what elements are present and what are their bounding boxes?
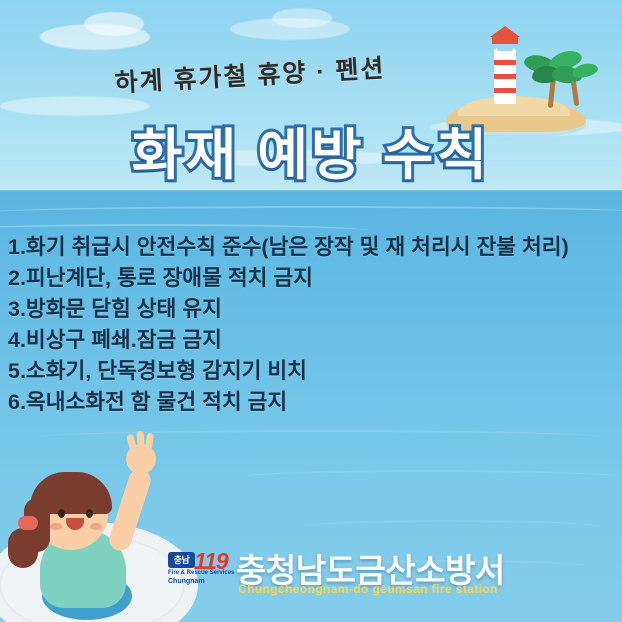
girl-finger bbox=[126, 433, 137, 450]
footer-logo: 충남 119 Fire & Rescue Services Chungnam 충… bbox=[168, 544, 608, 606]
girl-hair-bow bbox=[18, 516, 38, 530]
cloud-icon bbox=[272, 8, 332, 28]
girl-cheek bbox=[50, 523, 62, 530]
wave-line bbox=[0, 206, 622, 220]
fire-service-emblem-icon: 충남 119 Fire & Rescue Services Chungnam bbox=[168, 550, 230, 600]
list-item: 6.옥내소화전 함 물건 적치 금지 bbox=[8, 387, 618, 418]
list-item: 2.피난계단, 통로 장애물 적치 금지 bbox=[8, 263, 618, 294]
girl-pigtail bbox=[8, 528, 38, 568]
sea-horizon-line bbox=[0, 190, 622, 191]
girl-eye bbox=[86, 509, 93, 518]
lighthouse-stripe bbox=[494, 88, 516, 93]
list-item: 1.화기 취급시 안전수칙 준수(남은 장작 및 재 처리시 잔불 처리) bbox=[8, 232, 618, 263]
girl-finger bbox=[145, 433, 154, 450]
girl-eye bbox=[58, 509, 65, 518]
girl-cheek bbox=[90, 523, 102, 530]
emblem-badge: 충남 bbox=[168, 552, 195, 568]
lighthouse-window bbox=[497, 44, 513, 51]
organization-name-english: Chungcheongnam-do geumsan fire station bbox=[238, 582, 498, 596]
list-item: 5.소화기, 단독경보형 감지기 비치 bbox=[8, 356, 618, 387]
poster-root: 하계 휴가철 휴양 · 펜션 화재 예방 수칙 1.화기 취급시 안전수칙 준수… bbox=[0, 0, 622, 622]
wave-line bbox=[300, 520, 600, 534]
list-item: 3.방화문 닫힘 상태 유지 bbox=[8, 294, 618, 325]
cloud-icon bbox=[84, 12, 144, 36]
girl-finger bbox=[136, 431, 144, 447]
emblem-sub-line2: Chungnam bbox=[168, 578, 205, 585]
rules-list: 1.화기 취급시 안전수칙 준수(남은 장작 및 재 처리시 잔불 처리) 2.… bbox=[8, 232, 618, 418]
emblem-sub-line1: Fire & Rescue Services bbox=[168, 570, 234, 576]
page-title: 화재 예방 수칙 bbox=[0, 110, 622, 190]
list-item: 4.비상구 폐쇄.잠금 금지 bbox=[8, 325, 618, 356]
wave-line bbox=[240, 470, 620, 484]
